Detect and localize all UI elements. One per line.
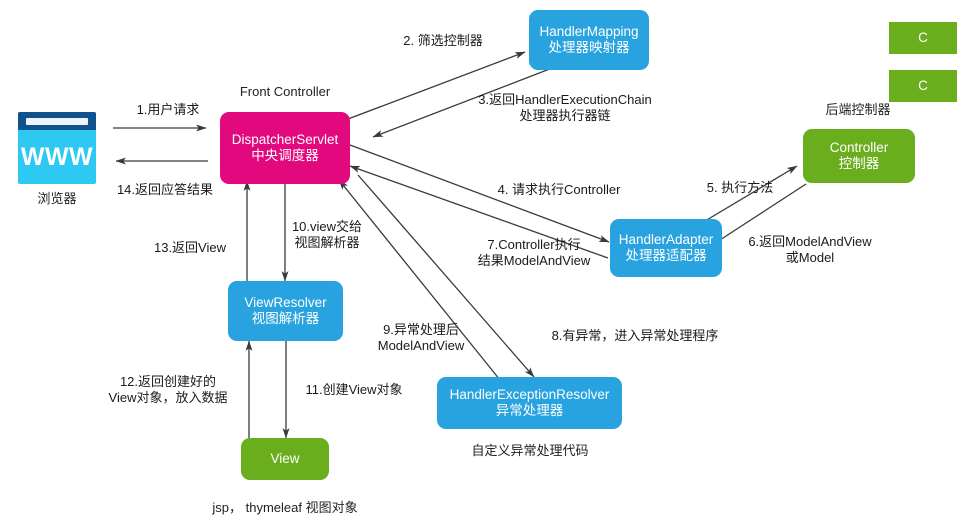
node-view-resolver-line1: ViewResolver <box>244 295 326 311</box>
edge-label-step-9-line1: 9.异常处理后 <box>362 322 480 338</box>
caption-view-objects: jsp， thymeleaf 视图对象 <box>190 497 380 516</box>
edge-label-step-10-line1: 10.view交给 <box>282 219 372 235</box>
edge-label-step-13-line1: 13.返回View <box>140 240 240 256</box>
edge-label-step-14: 14.返回应答结果 <box>110 182 220 198</box>
diagram-canvas: WWW 浏览器 Front Controller DispatcherServl… <box>0 0 974 524</box>
node-handler-mapping-line1: HandlerMapping <box>539 24 638 40</box>
node-controller[interactable]: Controller 控制器 <box>803 129 915 183</box>
edge-label-step-7-line1: 7.Controller执行 <box>459 237 609 253</box>
node-c-box-2[interactable]: C <box>889 70 957 102</box>
browser-icon: WWW <box>18 112 96 184</box>
browser-titlebar <box>18 112 96 130</box>
edge-label-step-12: 12.返回创建好的 View对象，放入数据 <box>98 374 238 407</box>
edge-label-step-6: 6.返回ModelAndView 或Model <box>725 234 895 267</box>
edge-label-step-9-line2: ModelAndView <box>362 338 480 354</box>
node-view-line1: View <box>270 451 299 467</box>
caption-custom-exception-code: 自定义异常处理代码 <box>440 440 620 459</box>
edge-label-step-3: 3.返回HandlerExecutionChain 处理器执行器链 <box>465 92 665 125</box>
node-controller-line1: Controller <box>830 140 889 156</box>
edge-label-step-7-line2: 结果ModelAndView <box>459 253 609 269</box>
node-view-resolver[interactable]: ViewResolver 视图解析器 <box>228 281 343 341</box>
node-view-resolver-line2: 视图解析器 <box>252 311 320 327</box>
edge-label-step-8-line1: 8.有异常，进入异常处理程序 <box>535 328 735 344</box>
node-dispatcher-servlet[interactable]: DispatcherServlet 中央调度器 <box>220 112 350 184</box>
edge-label-step-2: 2. 筛选控制器 <box>383 33 503 49</box>
edge-label-step-14-line1: 14.返回应答结果 <box>110 182 220 198</box>
node-handler-adapter[interactable]: HandlerAdapter 处理器适配器 <box>610 219 722 277</box>
edge-label-step-11-line1: 11.创建View对象 <box>298 382 410 398</box>
browser-caption: 浏览器 <box>18 188 96 207</box>
node-handler-exception-resolver[interactable]: HandlerExceptionResolver 异常处理器 <box>437 377 622 429</box>
edge-label-step-5-line1: 5. 执行方法 <box>690 180 790 196</box>
edge-label-step-1: 1.用户请求 <box>118 102 218 118</box>
edge-label-step-5: 5. 执行方法 <box>690 180 790 196</box>
node-handler-mapping[interactable]: HandlerMapping 处理器映射器 <box>529 10 649 70</box>
browser-www-label: WWW <box>18 130 96 184</box>
node-c-box-1[interactable]: C <box>889 22 957 54</box>
edge-label-step-7: 7.Controller执行 结果ModelAndView <box>459 237 609 270</box>
edge-label-step-12-line2: View对象，放入数据 <box>98 390 238 406</box>
edge-label-step-6-line2: 或Model <box>725 250 895 266</box>
edge-label-step-2-line1: 2. 筛选控制器 <box>383 33 503 49</box>
edge-label-step-6-line1: 6.返回ModelAndView <box>725 234 895 250</box>
node-dispatcher-servlet-line2: 中央调度器 <box>251 148 319 164</box>
edge-label-step-11: 11.创建View对象 <box>298 382 410 398</box>
node-dispatcher-servlet-line1: DispatcherServlet <box>232 132 339 148</box>
node-controller-line2: 控制器 <box>839 156 880 172</box>
edge-label-step-8: 8.有异常，进入异常处理程序 <box>535 328 735 344</box>
edge-label-step-12-line1: 12.返回创建好的 <box>98 374 238 390</box>
node-c-box-2-label: C <box>918 78 928 94</box>
caption-backend-controller: 后端控制器 <box>778 99 938 118</box>
caption-front-controller: Front Controller <box>205 84 365 99</box>
browser-addressbar-strip <box>26 118 88 125</box>
node-handler-exception-resolver-line2: 异常处理器 <box>496 403 564 419</box>
node-view[interactable]: View <box>241 438 329 480</box>
edge-label-step-9: 9.异常处理后 ModelAndView <box>362 322 480 355</box>
edge-label-step-3-line2: 处理器执行器链 <box>465 108 665 124</box>
node-handler-mapping-line2: 处理器映射器 <box>549 40 630 56</box>
edge-label-step-1-line1: 1.用户请求 <box>118 102 218 118</box>
node-handler-exception-resolver-line1: HandlerExceptionResolver <box>450 387 610 403</box>
node-handler-adapter-line2: 处理器适配器 <box>626 248 707 264</box>
edge-label-step-13: 13.返回View <box>140 240 240 256</box>
edge-label-step-3-line1: 3.返回HandlerExecutionChain <box>465 92 665 108</box>
edge-label-step-10: 10.view交给 视图解析器 <box>282 219 372 252</box>
edge-label-step-4-line1: 4. 请求执行Controller <box>479 182 639 198</box>
node-handler-adapter-line1: HandlerAdapter <box>619 232 714 248</box>
edge-label-step-4: 4. 请求执行Controller <box>479 182 639 198</box>
edge-label-step-10-line2: 视图解析器 <box>282 235 372 251</box>
node-c-box-1-label: C <box>918 30 928 46</box>
